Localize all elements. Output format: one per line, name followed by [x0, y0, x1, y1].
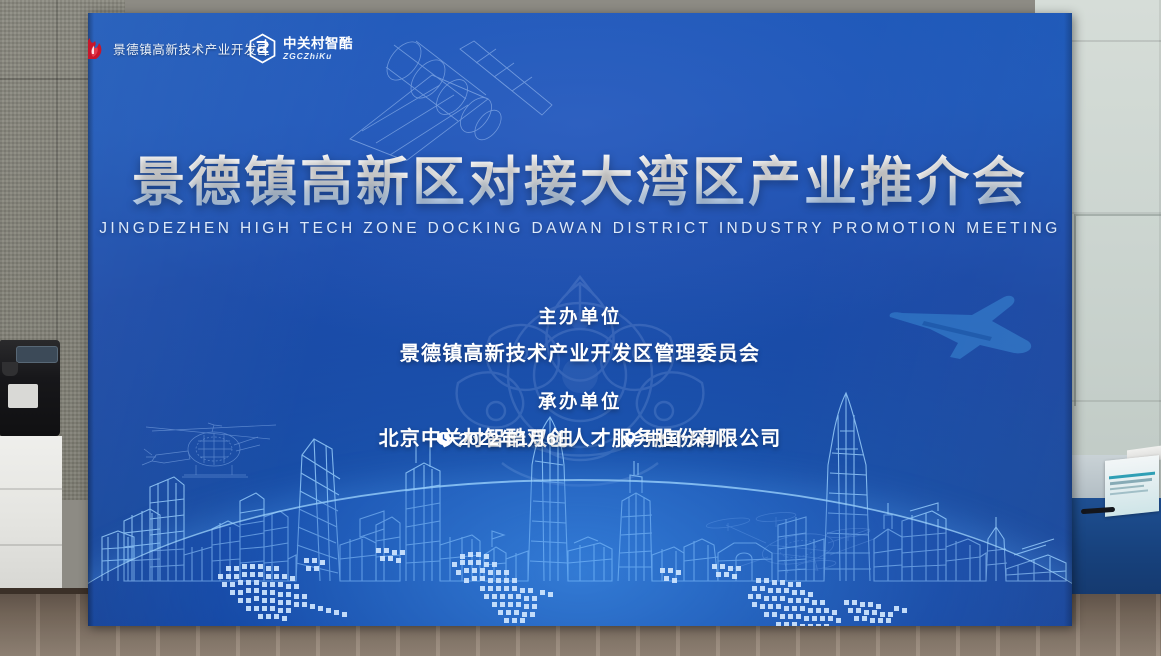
zgczhiku-logo-en: ZGCZhiKu: [283, 52, 353, 61]
flame-emblem-icon: [88, 35, 106, 61]
main-title-en: JINGDEZHEN HIGH TECH ZONE DOCKING DAWAN …: [88, 220, 1072, 238]
title-block: 景德镇高新区对接大湾区产业推介会 JINGDEZHEN HIGH TECH ZO…: [88, 153, 1072, 238]
drone-wireframe: [698, 501, 903, 585]
clock-icon: [436, 431, 451, 446]
hexagon-z-logo-icon: [248, 33, 277, 64]
host-label: 主办单位: [88, 303, 1072, 329]
wall-door-frame: [1074, 214, 1161, 406]
event-date: 2022年1月6日: [436, 426, 574, 451]
event-location-text: 中国·深圳: [645, 426, 724, 451]
event-backdrop-banner: 景德镇高新技术产业开发区 中关村智酷 ZGCZhiKu 景德镇高新区对接大湾区产…: [88, 13, 1072, 626]
location-pin-icon: [623, 431, 638, 446]
co-host-label: 承办单位: [88, 388, 1072, 414]
counter-seam: [0, 488, 62, 490]
sign-text-line: [1110, 478, 1152, 485]
spacer: [88, 366, 1072, 388]
logo-bar: 景德镇高新技术产业开发区 中关村智酷 ZGCZhiKu: [88, 13, 1072, 73]
globe-arc: [88, 479, 1072, 626]
globe-dotted-worldmap: [88, 506, 1072, 626]
coffee-machine-panel: [16, 346, 58, 363]
white-counter: [0, 436, 62, 596]
event-date-text: 2022年1月6日: [458, 426, 574, 451]
coffee-machine-spout: [2, 362, 18, 376]
meta-row: 2022年1月6日 中国·深圳: [88, 426, 1072, 451]
coffee-machine-cup-area: [8, 384, 38, 408]
host-name: 景德镇高新技术产业开发区管理委员会: [88, 337, 1072, 366]
jingdezhen-zone-logo: 景德镇高新技术产业开发区: [88, 35, 270, 61]
coffee-machine: [0, 340, 60, 436]
sign-text-line: [1110, 489, 1148, 495]
zgczhiku-logo: 中关村智酷 ZGCZhiKu: [248, 33, 353, 64]
zgczhiku-logo-text: 中关村智酷 ZGCZhiKu: [283, 37, 353, 61]
counter-seam: [0, 544, 62, 546]
zgczhiku-logo-cn: 中关村智酷: [283, 37, 353, 51]
event-location: 中国·深圳: [623, 426, 724, 451]
screenshot-root: 景德镇高新技术产业开发区 中关村智酷 ZGCZhiKu 景德镇高新区对接大湾区产…: [0, 0, 1161, 656]
jingdezhen-zone-logo-text: 景德镇高新技术产业开发区: [113, 39, 270, 58]
main-title-cn: 景德镇高新区对接大湾区产业推介会: [88, 153, 1072, 212]
